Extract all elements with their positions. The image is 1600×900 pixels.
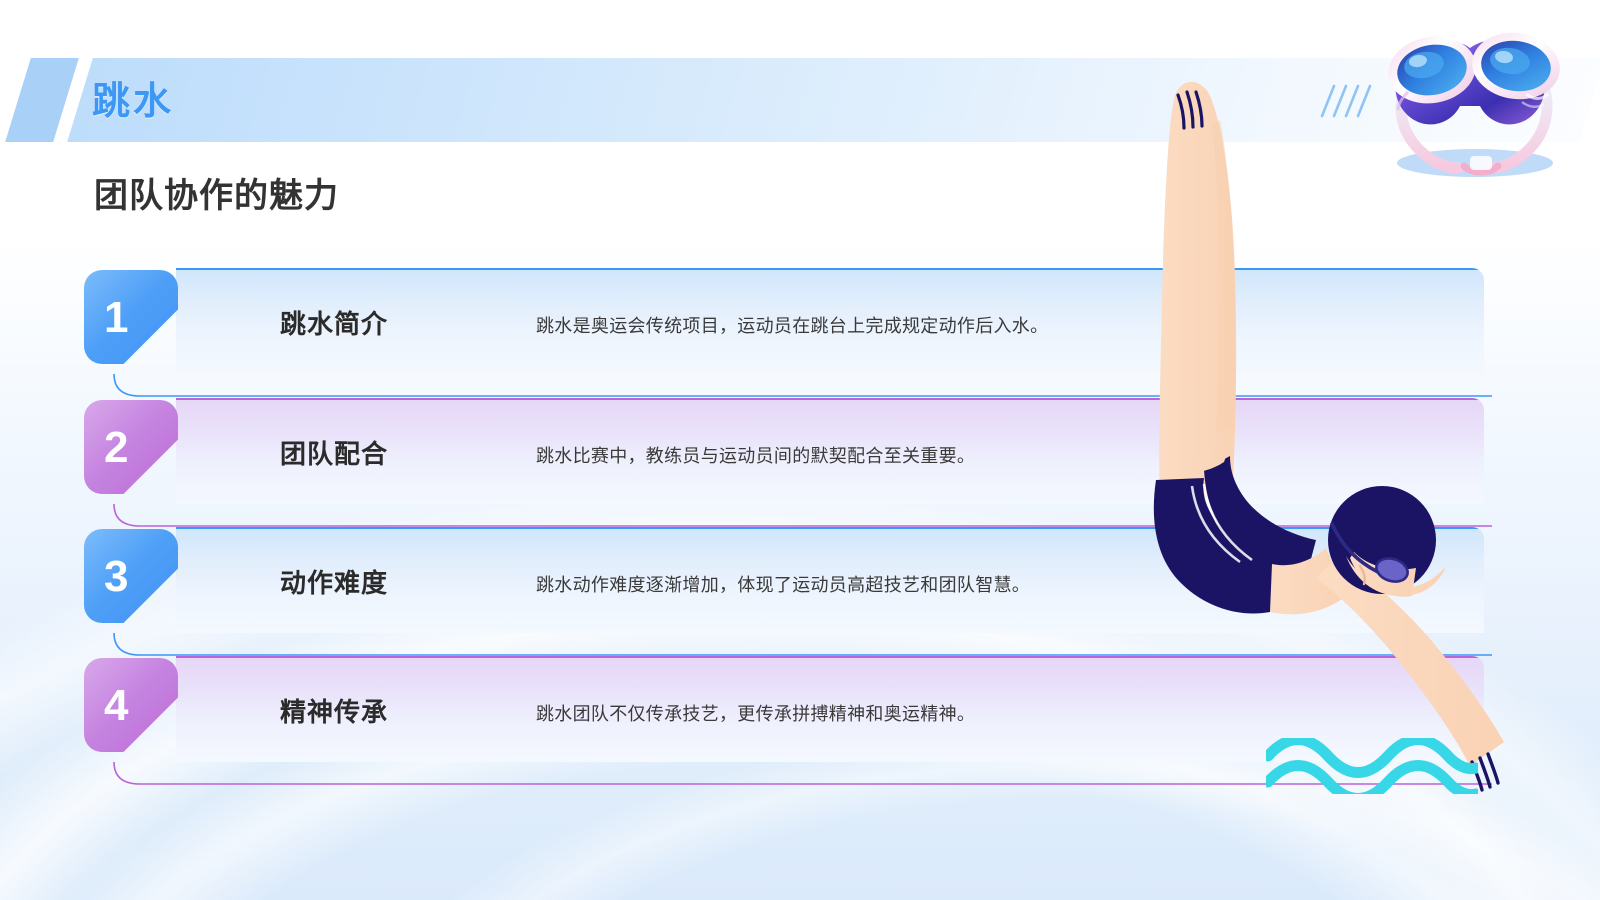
row-number: 4 [104,684,128,728]
row-title: 团队配合 [280,434,388,471]
row-number-badge[interactable]: 3 [84,529,178,623]
row-number: 2 [104,426,128,470]
row-description: 跳水是奥运会传统项目，运动员在跳台上完成规定动作后入水。 [536,312,1048,338]
row-number-badge[interactable]: 4 [84,658,178,752]
content-row[interactable]: 4精神传承跳水团队不仅传承技艺，更传承拼搏精神和奥运精神。 [84,656,1484,762]
header-band [0,58,1600,142]
content-row[interactable]: 1跳水简介跳水是奥运会传统项目，运动员在跳台上完成规定动作后入水。 [84,268,1484,374]
header-band-body [67,58,1600,142]
row-number: 1 [104,296,128,340]
page-title: 团队协作的魅力 [94,168,339,217]
row-description: 跳水团队不仅传承技艺，更传承拼搏精神和奥运精神。 [536,700,975,726]
slide-canvas: 跳水 团队协作的魅力 1跳水简介跳水是奥运会传统项目，运动员在跳台上完成规定动作… [0,0,1600,900]
row-title: 精神传承 [280,692,388,729]
row-underline [100,762,1484,788]
swim-goggles-illustration [1340,8,1600,188]
row-number-badge[interactable]: 2 [84,400,178,494]
header-title: 跳水 [92,70,174,125]
row-title: 动作难度 [280,563,388,600]
row-description: 跳水动作难度逐渐增加，体现了运动员高超技艺和团队智慧。 [536,571,1030,597]
row-number-badge[interactable]: 1 [84,270,178,364]
content-row[interactable]: 3动作难度跳水动作难度逐渐增加，体现了运动员高超技艺和团队智慧。 [84,527,1484,633]
content-row[interactable]: 2团队配合跳水比赛中，教练员与运动员间的默契配合至关重要。 [84,398,1484,504]
speed-lines-icon [1318,80,1372,124]
row-number: 3 [104,555,128,599]
row-description: 跳水比赛中，教练员与运动员间的默契配合至关重要。 [536,442,975,468]
header-accent-stripe [5,58,79,142]
row-underline [100,374,1484,400]
row-title: 跳水简介 [280,304,388,341]
